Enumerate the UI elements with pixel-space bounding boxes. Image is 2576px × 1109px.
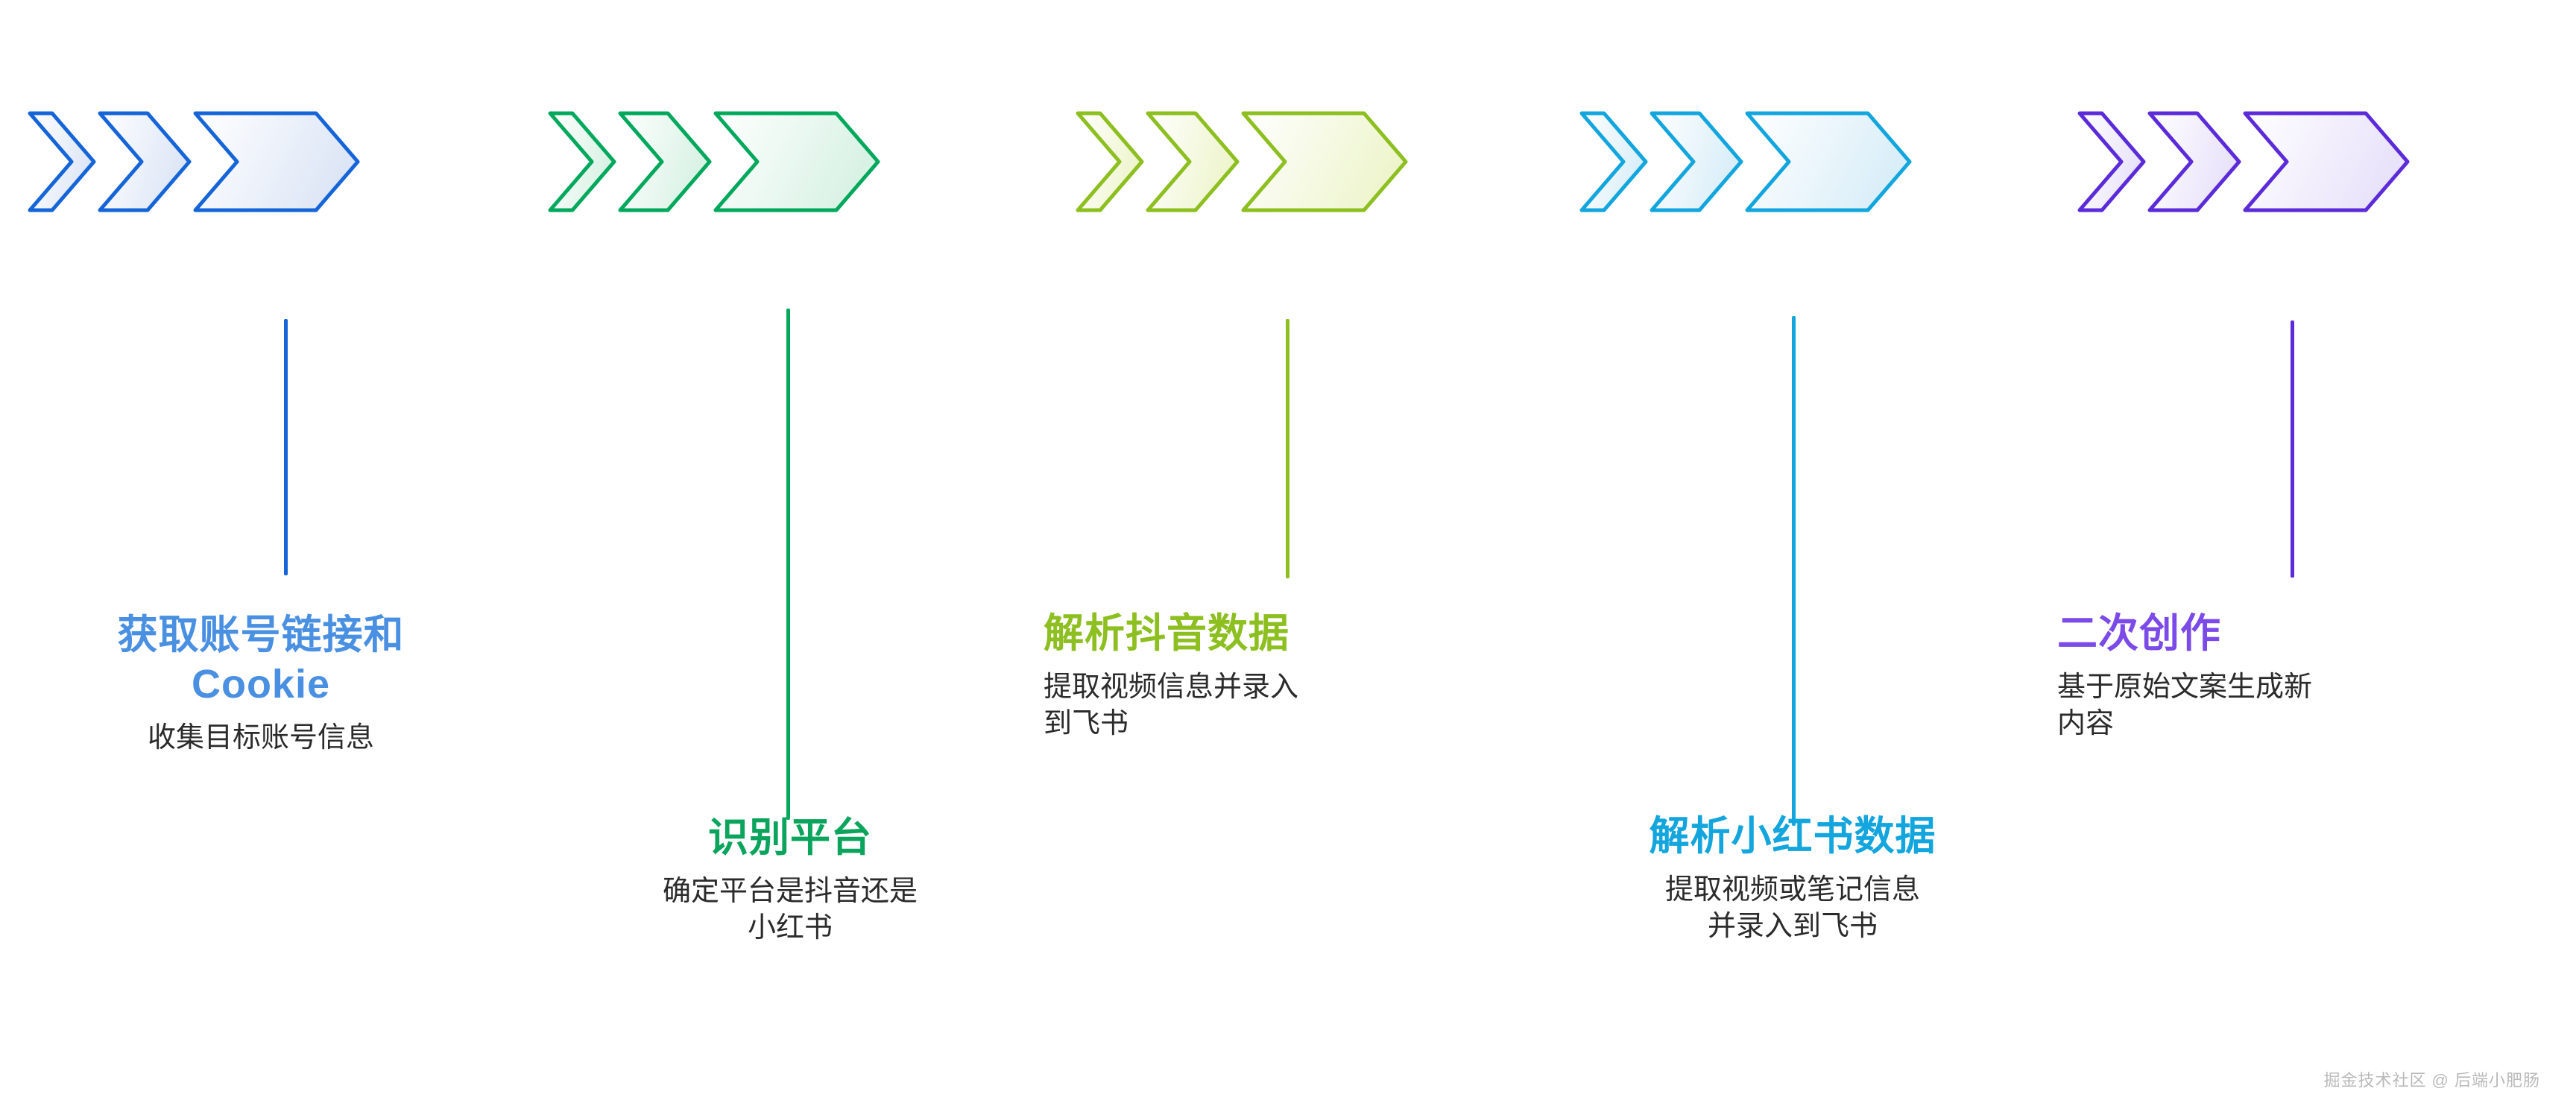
chevron-arrow-2 [1652,113,1741,210]
step-description-2: 确定平台是抖音还是 小红书 [514,873,1066,947]
chevron-arrow-1 [1078,113,1142,210]
step-text-block-3: 解析抖音数据提取视频信息并录入 到飞书 [1044,610,1535,743]
step-description-3: 提取视频信息并录入 到飞书 [1044,669,1535,743]
step-description-4: 提取视频或笔记信息 并录入到飞书 [1532,872,2053,946]
chevron-arrow-1 [550,113,614,210]
step-text-block-2: 识别平台确定平台是抖音还是 小红书 [514,814,1066,947]
chevron-group-step-4 [1582,112,1917,209]
step-description-5: 基于原始文案生成新 内容 [2057,669,2534,743]
step-title-5: 二次创作 [2057,610,2534,659]
connector-line-step-4 [1792,316,1796,826]
chevron-group-step-1 [30,112,365,209]
chevron-arrow-3 [1747,113,1910,210]
chevron-group-step-2 [550,112,885,209]
chevron-arrow-1 [30,113,94,210]
connector-line-step-3 [1286,319,1289,578]
flow-diagram-canvas: 获取账号链接和 Cookie收集目标账号信息识别平台确定平台是抖音还是 小红书解… [0,0,2576,1109]
chevron-arrow-3 [195,113,358,210]
step-text-block-4: 解析小红书数据提取视频或笔记信息 并录入到飞书 [1532,812,2053,946]
chevron-group-step-3 [1078,112,1413,209]
step-title-1: 获取账号链接和 Cookie [7,611,514,710]
step-text-block-5: 二次创作基于原始文案生成新 内容 [2057,610,2534,743]
chevron-arrow-1 [2080,113,2144,210]
chevron-arrow-2 [100,113,189,210]
chevron-arrow-2 [620,113,710,210]
chevron-arrow-2 [1148,113,1237,210]
chevron-arrow-3 [2245,113,2408,210]
chevron-arrow-3 [716,113,878,210]
connector-line-step-2 [786,309,790,820]
chevron-arrow-3 [1243,113,1406,210]
chevron-arrow-2 [2150,113,2239,210]
step-title-2: 识别平台 [514,814,1066,863]
step-description-1: 收集目标账号信息 [7,720,514,756]
connector-line-step-1 [284,319,288,575]
watermark: 掘金技术社区 @ 后端小肥肠 [2323,1067,2540,1091]
chevron-arrow-1 [1582,113,1646,210]
step-text-block-1: 获取账号链接和 Cookie收集目标账号信息 [7,611,514,756]
chevron-group-step-5 [2080,112,2415,209]
step-title-4: 解析小红书数据 [1532,812,2053,862]
connector-line-step-5 [2291,320,2294,578]
step-title-3: 解析抖音数据 [1044,610,1535,659]
